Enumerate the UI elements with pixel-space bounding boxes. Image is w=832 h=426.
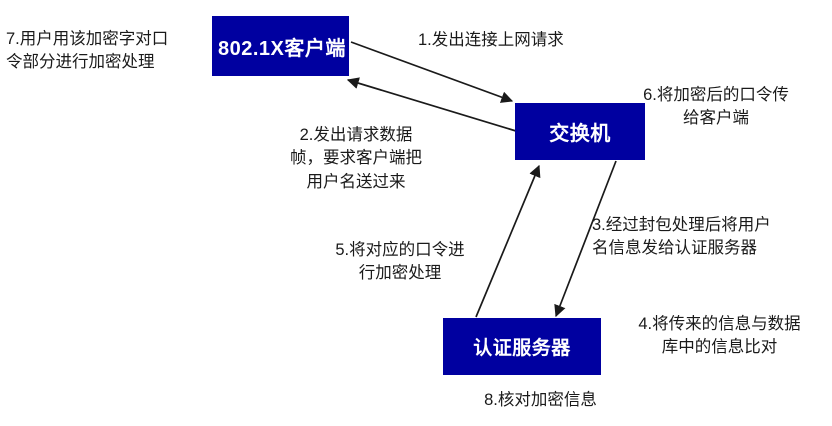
step-label-1: 1.发出连接上网请求 (418, 29, 628, 52)
step-label-8: 8.核对加密信息 (443, 389, 638, 412)
node-server[interactable]: 认证服务器 (443, 318, 601, 375)
step-label-6: 6.将加密后的口令传 给客户端 (605, 84, 827, 131)
step-label-4: 4.将传来的信息与数据 库中的信息比对 (607, 313, 832, 360)
node-client[interactable]: 802.1X客户端 (212, 16, 349, 76)
step-label-3: 3.经过封包处理后将用户 名信息发给认证服务器 (592, 214, 832, 261)
node-server-label: 认证服务器 (473, 333, 571, 360)
node-switch-label: 交换机 (549, 117, 611, 146)
step-label-5: 5.将对应的口令进 行加密处理 (305, 239, 495, 286)
node-client-label: 802.1X客户端 (218, 32, 346, 61)
step-label-7: 7.用户用该加密字对口 令部分进行加密处理 (6, 28, 211, 75)
step-label-2: 2.发出请求数据 帧，要求客户端把 用户名送过来 (252, 124, 460, 194)
diagram-canvas: 802.1X客户端 交换机 认证服务器 7.用户用该加密字对口 令部分进行加密处… (0, 0, 832, 426)
